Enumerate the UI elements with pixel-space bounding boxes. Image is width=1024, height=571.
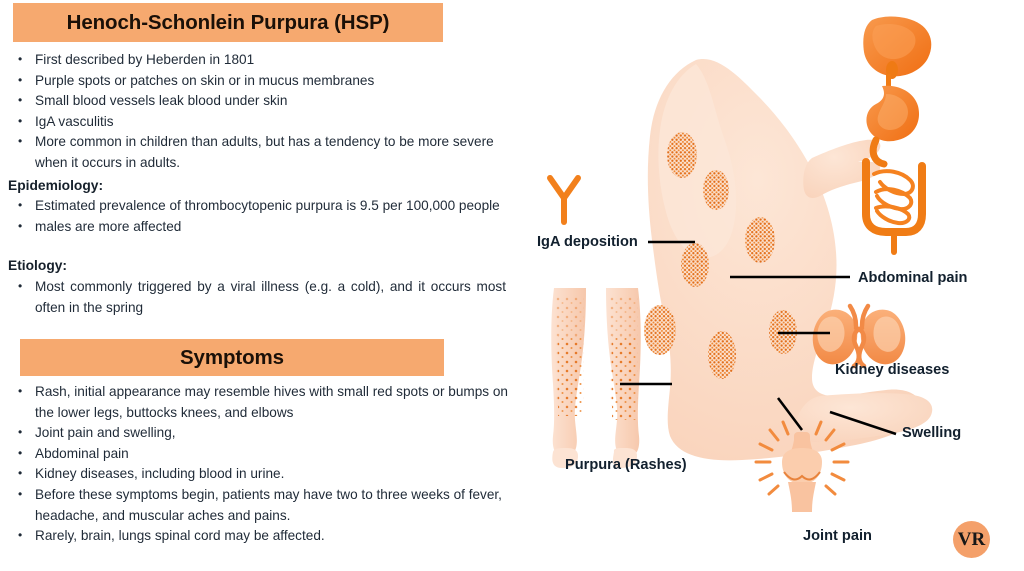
label-purpura-rashes: Purpura (Rashes) bbox=[565, 457, 687, 473]
list-item: Kidney diseases, including blood in urin… bbox=[10, 464, 510, 485]
vr-watermark-text: VR bbox=[958, 529, 985, 551]
left-text-column: Henoch-Schonlein Purpura (HSP) First des… bbox=[0, 0, 520, 571]
intro-bullet-list: First described by Heberden in 1801 Purp… bbox=[10, 50, 502, 174]
page-title: Henoch-Schonlein Purpura (HSP) bbox=[13, 3, 443, 42]
label-abdominal-pain: Abdominal pain bbox=[858, 270, 967, 286]
list-item: Joint pain and swelling, bbox=[10, 423, 510, 444]
list-item: Purple spots or patches on skin or in mu… bbox=[10, 71, 502, 92]
label-kidney-diseases: Kidney diseases bbox=[835, 362, 949, 378]
list-item: IgA vasculitis bbox=[10, 112, 502, 133]
kidneys-icon bbox=[813, 306, 906, 366]
list-item: First described by Heberden in 1801 bbox=[10, 50, 502, 71]
slide-root: Henoch-Schonlein Purpura (HSP) First des… bbox=[0, 0, 1024, 571]
list-item: Abdominal pain bbox=[10, 444, 510, 465]
list-item: Rash, initial appearance may resemble hi… bbox=[10, 382, 510, 423]
antibody-y-icon bbox=[550, 178, 578, 222]
digestive-system-icon bbox=[863, 17, 931, 252]
label-iga-deposition: IgA deposition bbox=[537, 234, 638, 250]
list-item: Estimated prevalence of thrombocytopenic… bbox=[10, 196, 510, 217]
vr-watermark-logo: VR bbox=[953, 521, 990, 558]
illustration-panel: IgA deposition Abdominal pain Kidney dis… bbox=[520, 0, 1024, 571]
symptoms-section-title: Symptoms bbox=[20, 339, 444, 376]
epidemiology-heading: Epidemiology: bbox=[8, 178, 103, 193]
etiology-bullet-list: Most commonly triggered by a viral illne… bbox=[10, 277, 506, 318]
symptoms-bullet-list: Rash, initial appearance may resemble hi… bbox=[10, 382, 510, 547]
label-joint-pain: Joint pain bbox=[803, 528, 872, 544]
list-item: More common in children than adults, but… bbox=[10, 132, 502, 173]
list-item: Most commonly triggered by a viral illne… bbox=[10, 277, 506, 318]
list-item: Rarely, brain, lungs spinal cord may be … bbox=[10, 526, 510, 547]
list-item: males are more affected bbox=[10, 217, 510, 238]
legs-with-rash-icon bbox=[551, 288, 641, 468]
epidemiology-bullet-list: Estimated prevalence of thrombocytopenic… bbox=[10, 196, 510, 237]
etiology-heading: Etiology: bbox=[8, 258, 67, 273]
list-item: Before these symptoms begin, patients ma… bbox=[10, 485, 510, 526]
list-item: Small blood vessels leak blood under ski… bbox=[10, 91, 502, 112]
label-swelling: Swelling bbox=[902, 425, 961, 441]
